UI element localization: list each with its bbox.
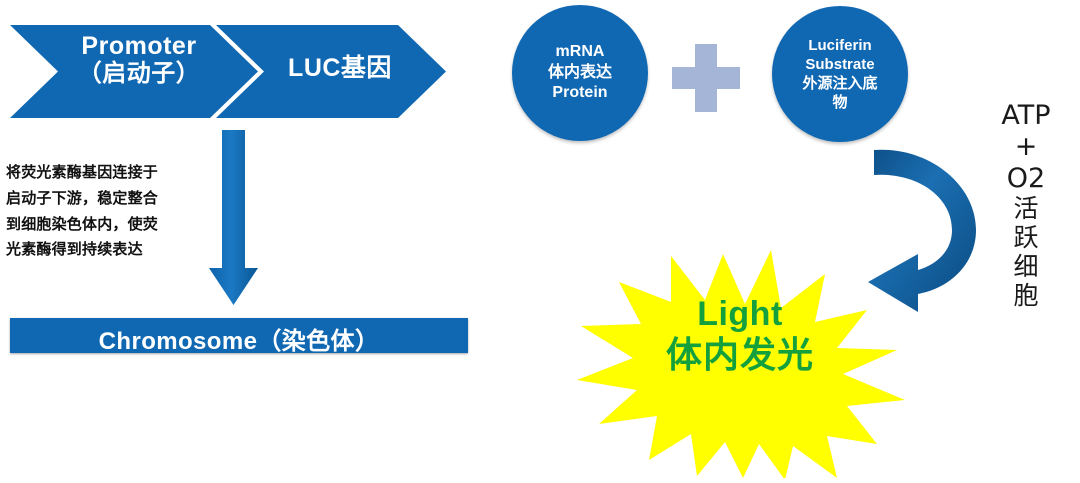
promoter-label: Promoter （启动子） xyxy=(48,33,230,87)
mrna-line-2: 体内表达 xyxy=(548,63,612,83)
description-line-3: 到细胞染色体内，使荧 xyxy=(6,212,206,238)
description-line-4: 光素酶得到持续表达 xyxy=(6,237,206,263)
description-line-2: 启动子下游，稳定整合 xyxy=(6,186,206,212)
mrna-circle-text: mRNA 体内表达 Protein xyxy=(548,42,612,103)
integration-description: 将荧光素酶基因连接于 启动子下游，稳定整合 到细胞染色体内，使荧 光素酶得到持续… xyxy=(6,160,206,263)
cofactor-line-4: 活 xyxy=(990,194,1062,223)
cofactor-line-5: 跃 xyxy=(990,223,1062,252)
cofactor-line-2: + xyxy=(990,131,1062,162)
luc-gene-label: LUC基因 xyxy=(260,55,420,81)
gene-construct-chevron: Promoter （启动子） LUC基因 xyxy=(10,25,446,118)
promoter-label-en: Promoter xyxy=(48,33,230,59)
mrna-circle: mRNA 体内表达 Protein xyxy=(512,5,648,141)
promoter-label-zh: （启动子） xyxy=(48,62,230,87)
luciferin-line-3: 外源注入底 xyxy=(802,74,877,93)
diagram-canvas: Promoter （启动子） LUC基因 将荧光素酶基因连接于 启动子下游，稳定… xyxy=(0,0,1080,465)
luciferin-line-4: 物 xyxy=(802,93,877,112)
light-label-en: Light xyxy=(600,296,880,332)
mrna-line-1: mRNA xyxy=(548,42,612,62)
chromosome-bar: Chromosome（染色体） xyxy=(10,318,468,353)
cofactor-line-6: 细 xyxy=(990,252,1062,281)
description-line-1: 将荧光素酶基因连接于 xyxy=(6,160,206,186)
plus-icon xyxy=(672,44,740,117)
luciferin-line-1: Luciferin xyxy=(802,36,877,55)
mrna-line-3: Protein xyxy=(548,83,612,103)
light-label-zh: 体内发光 xyxy=(600,336,880,374)
light-output-label: Light 体内发光 xyxy=(600,296,880,374)
luciferin-circle: Luciferin Substrate 外源注入底 物 xyxy=(772,6,908,142)
down-arrow-icon xyxy=(205,128,265,313)
cofactor-line-3: O2 xyxy=(990,163,1062,194)
luciferin-circle-text: Luciferin Substrate 外源注入底 物 xyxy=(802,36,877,113)
cofactor-line-1: ATP xyxy=(990,100,1062,131)
cofactor-label: ATP + O2 活 跃 细 胞 xyxy=(990,100,1062,310)
luciferin-line-2: Substrate xyxy=(802,55,877,74)
chromosome-label: Chromosome（染色体） xyxy=(10,321,468,356)
cofactor-line-7: 胞 xyxy=(990,281,1062,310)
